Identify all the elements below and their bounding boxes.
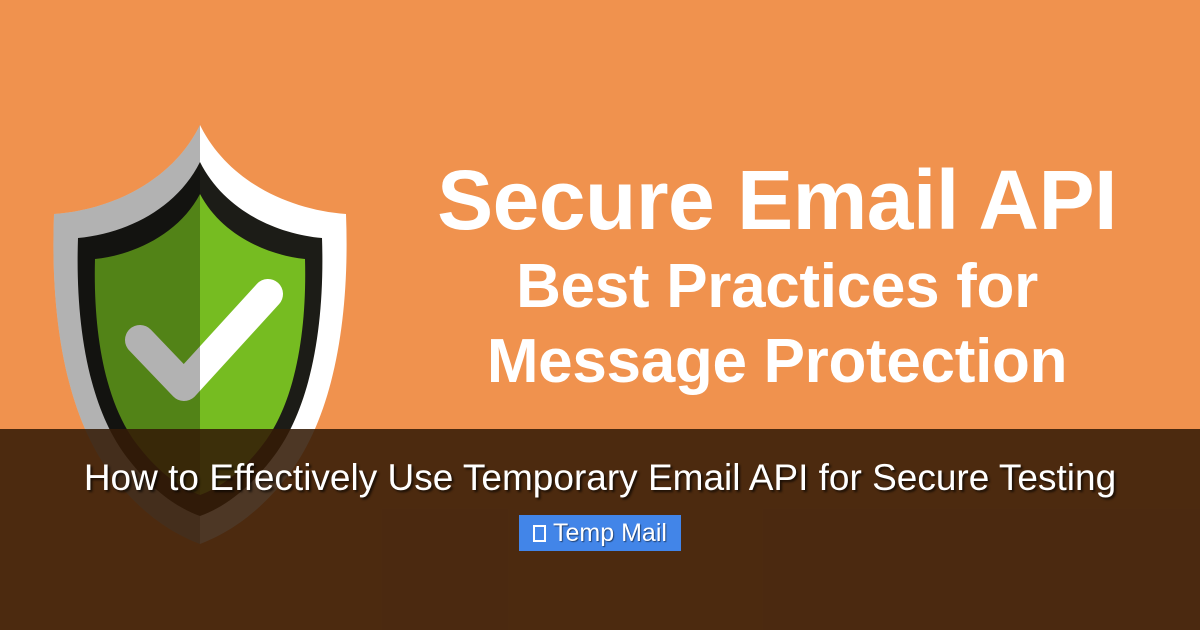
temp-mail-badge[interactable]: Temp Mail — [519, 515, 681, 551]
social-share-card: Secure Email API Best Practices for Mess… — [0, 0, 1200, 630]
bottom-band-content: How to Effectively Use Temporary Email A… — [0, 429, 1200, 630]
missing-glyph-icon — [533, 525, 546, 542]
article-title: How to Effectively Use Temporary Email A… — [84, 455, 1116, 502]
hero-copy: Secure Email API Best Practices for Mess… — [392, 160, 1162, 400]
hero-subtitle-line2: Message Protection — [392, 324, 1162, 400]
temp-mail-badge-label: Temp Mail — [553, 515, 667, 551]
hero-subtitle-line1: Best Practices for — [392, 249, 1162, 325]
hero-title: Secure Email API — [392, 160, 1162, 241]
